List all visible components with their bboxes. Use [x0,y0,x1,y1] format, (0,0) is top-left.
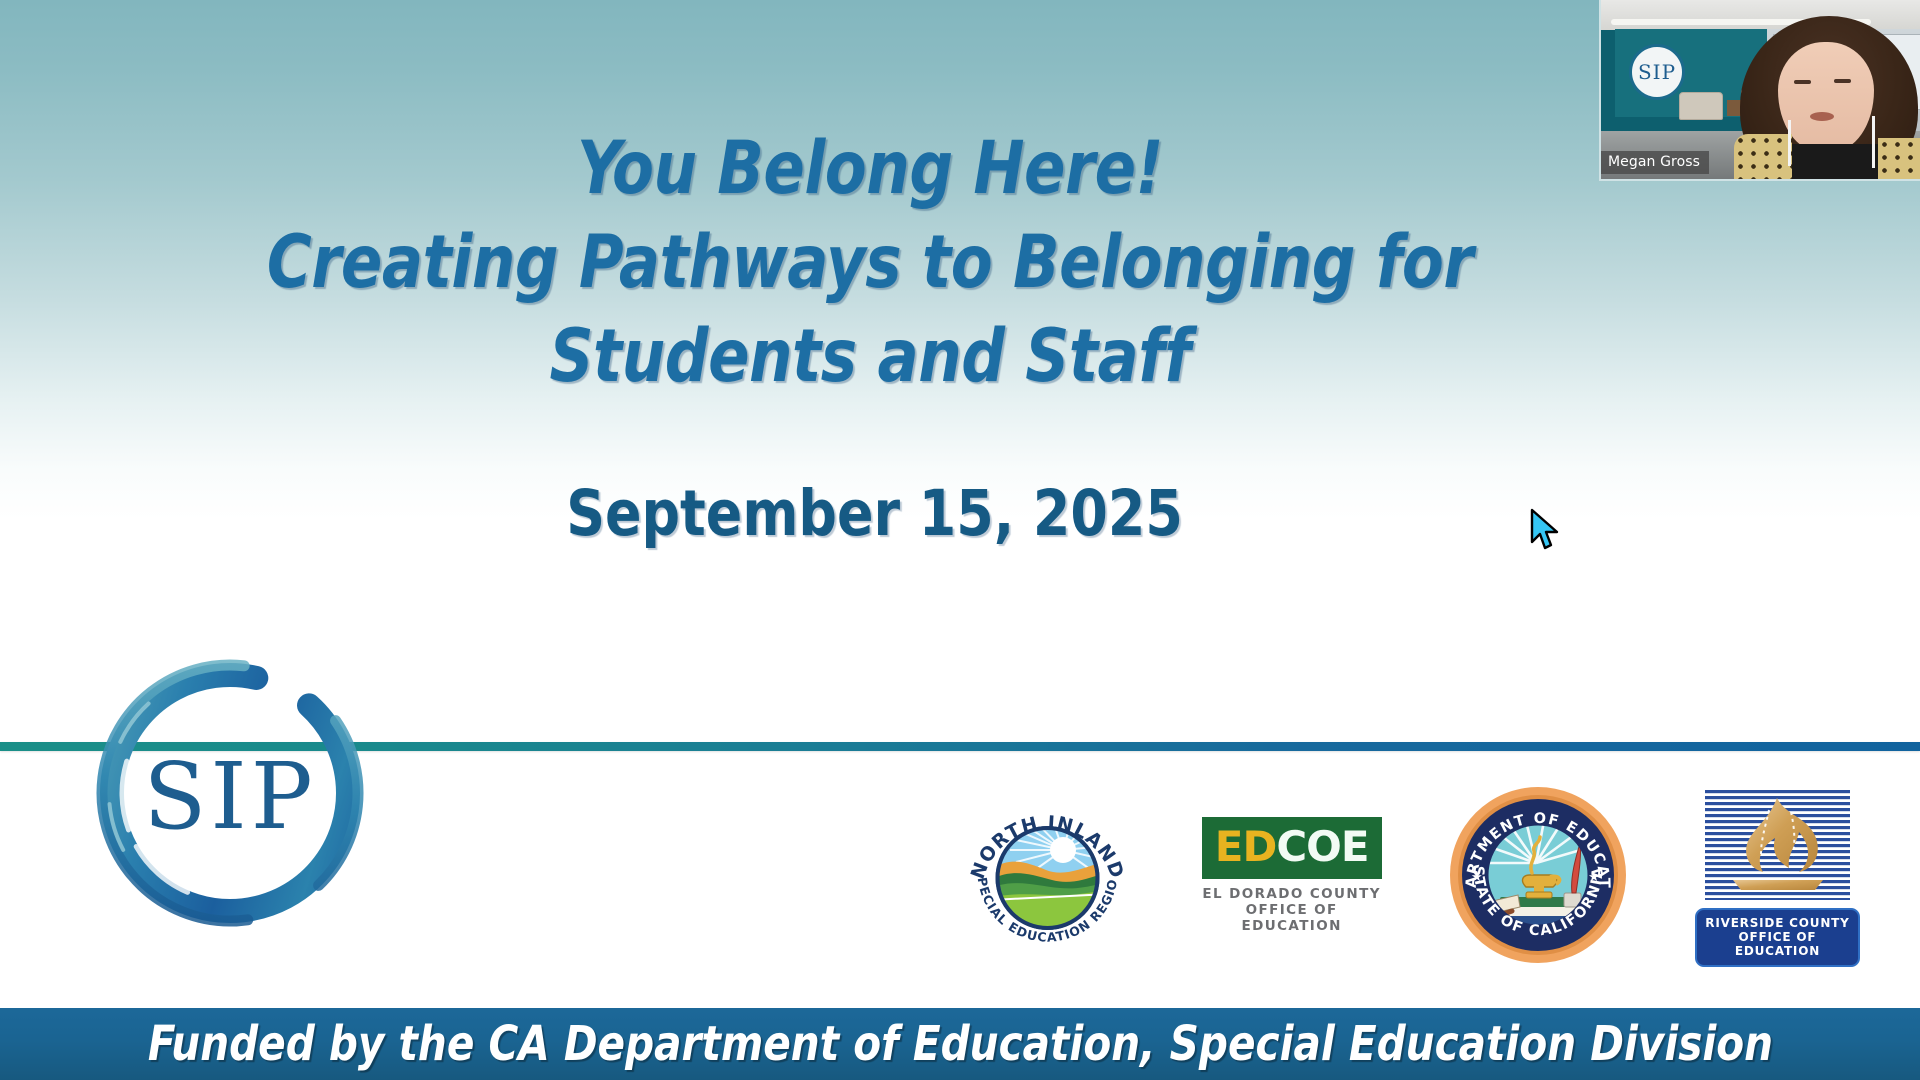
mouse-cursor [1528,508,1562,552]
edcoe-subtitle-line1: EL DORADO COUNTY [1202,886,1382,902]
riverside-flame-icon [1695,784,1860,912]
title-line-2: Creating Pathways to Belonging for [173,216,1568,310]
edcoe-coe-text: COE [1276,822,1368,871]
video-participant-name-label: Megan Gross [1601,151,1709,174]
video-participant-tile[interactable]: SIP Megan Gross [1599,0,1920,181]
edcoe-ed-text: ED [1215,822,1277,871]
cde-star-right: ★ [1588,869,1600,884]
riverside-line1: RIVERSIDE COUNTY [1701,916,1854,930]
riverside-name-bar: RIVERSIDE COUNTY OFFICE OF EDUCATION [1695,908,1860,967]
cde-star-left: ★ [1471,869,1483,884]
edcoe-wordmark: EDCOE [1202,817,1382,879]
partner-logos-row: NORTH INLAND SPECIAL EDUCATION REGION ED… [960,770,1860,980]
title-line-1: You Belong Here! [173,122,1568,216]
cde-seal-icon: DEPARTMENT OF EDUCATION STATE OF CALIFOR… [1448,785,1628,965]
slide-date: September 15, 2025 [48,478,1872,550]
partner-logo-riverside: RIVERSIDE COUNTY OFFICE OF EDUCATION [1695,784,1860,967]
edcoe-subtitle-line2: OFFICE OF EDUCATION [1202,902,1382,934]
presentation-slide: You Belong Here! Creating Pathways to Be… [0,0,1920,1080]
partner-logo-cde: DEPARTMENT OF EDUCATION STATE OF CALIFOR… [1448,785,1628,965]
funding-banner: Funded by the CA Department of Education… [0,1008,1920,1080]
sip-logo: SIP [85,648,375,938]
sip-logo-text: SIP [85,648,375,938]
riverside-line2: OFFICE OF EDUCATION [1701,930,1854,958]
video-participant-person [1726,16,1920,181]
funding-banner-text: Funded by the CA Department of Education… [147,1016,1772,1072]
title-line-3: Students and Staff [173,310,1568,404]
partner-logo-edcoe: EDCOE EL DORADO COUNTY OFFICE OF EDUCATI… [1202,817,1382,934]
north-inland-seal-icon: NORTH INLAND SPECIAL EDUCATION REGION [960,788,1135,963]
video-background-sip-logo: SIP [1629,44,1685,100]
partner-logo-north-inland: NORTH INLAND SPECIAL EDUCATION REGION [960,788,1135,963]
